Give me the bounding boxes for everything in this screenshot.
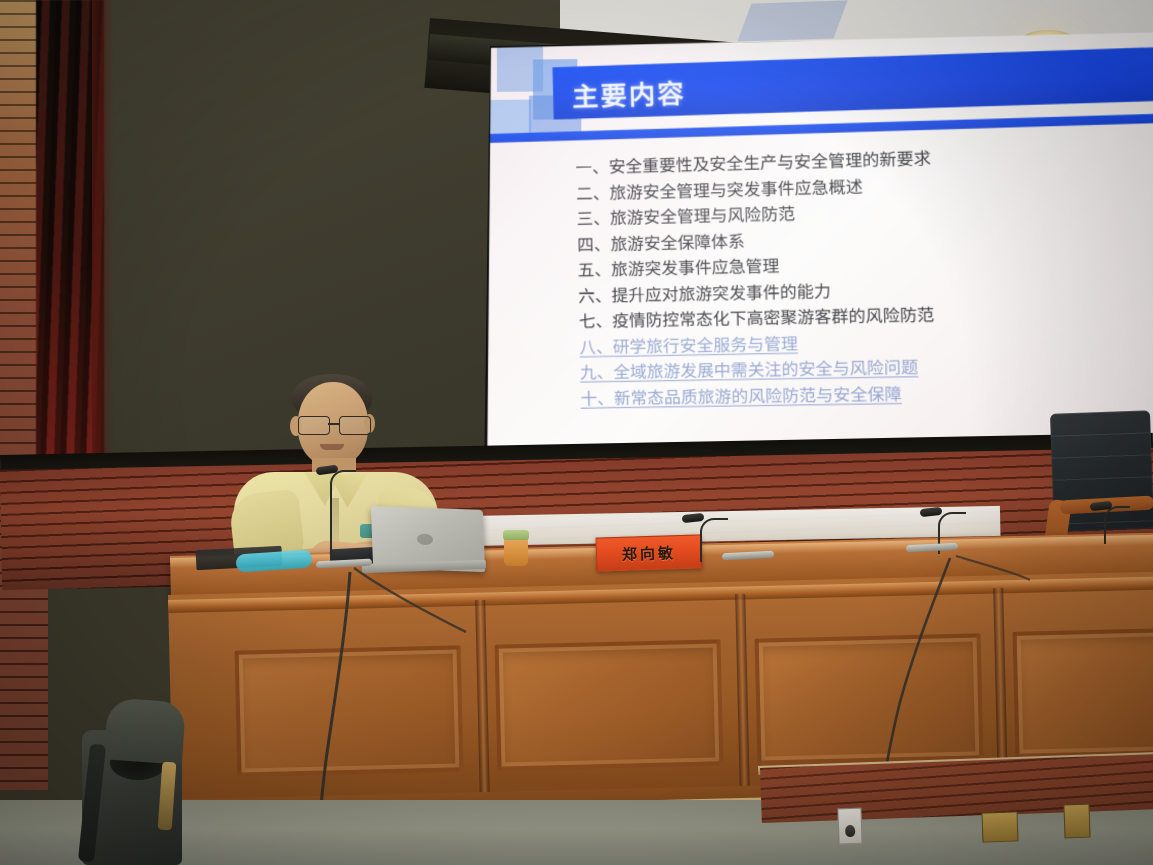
desk-panel xyxy=(1013,628,1153,758)
floor-outlet xyxy=(981,811,1018,842)
ceiling-panel xyxy=(737,0,847,41)
microphone-gooseneck xyxy=(330,470,356,564)
glasses-bridge xyxy=(328,423,340,425)
lens-right xyxy=(339,416,371,435)
shoulder-bag xyxy=(78,700,188,865)
slide-title: 主要内容 xyxy=(572,73,686,114)
floor-outlet xyxy=(1063,804,1090,839)
slide-deco-square-3 xyxy=(489,100,531,134)
wall-switch[interactable] xyxy=(837,808,862,845)
photo-scene: 主要内容 一、安全重要性及安全生产与安全管理的新要求 二、旅游安全管理与突发事件… xyxy=(0,0,1153,865)
bag-flap xyxy=(104,697,186,764)
laptop-logo xyxy=(417,534,433,546)
microphone-gooseneck xyxy=(1104,506,1130,544)
glasses-icon xyxy=(298,416,370,433)
lens-left xyxy=(298,416,330,435)
mouth xyxy=(320,444,344,450)
cup-lid xyxy=(503,530,529,540)
slide-toc-list: 一、安全重要性及安全生产与安全管理的新要求 二、旅游安全管理与突发事件应急概述 … xyxy=(575,140,1153,412)
